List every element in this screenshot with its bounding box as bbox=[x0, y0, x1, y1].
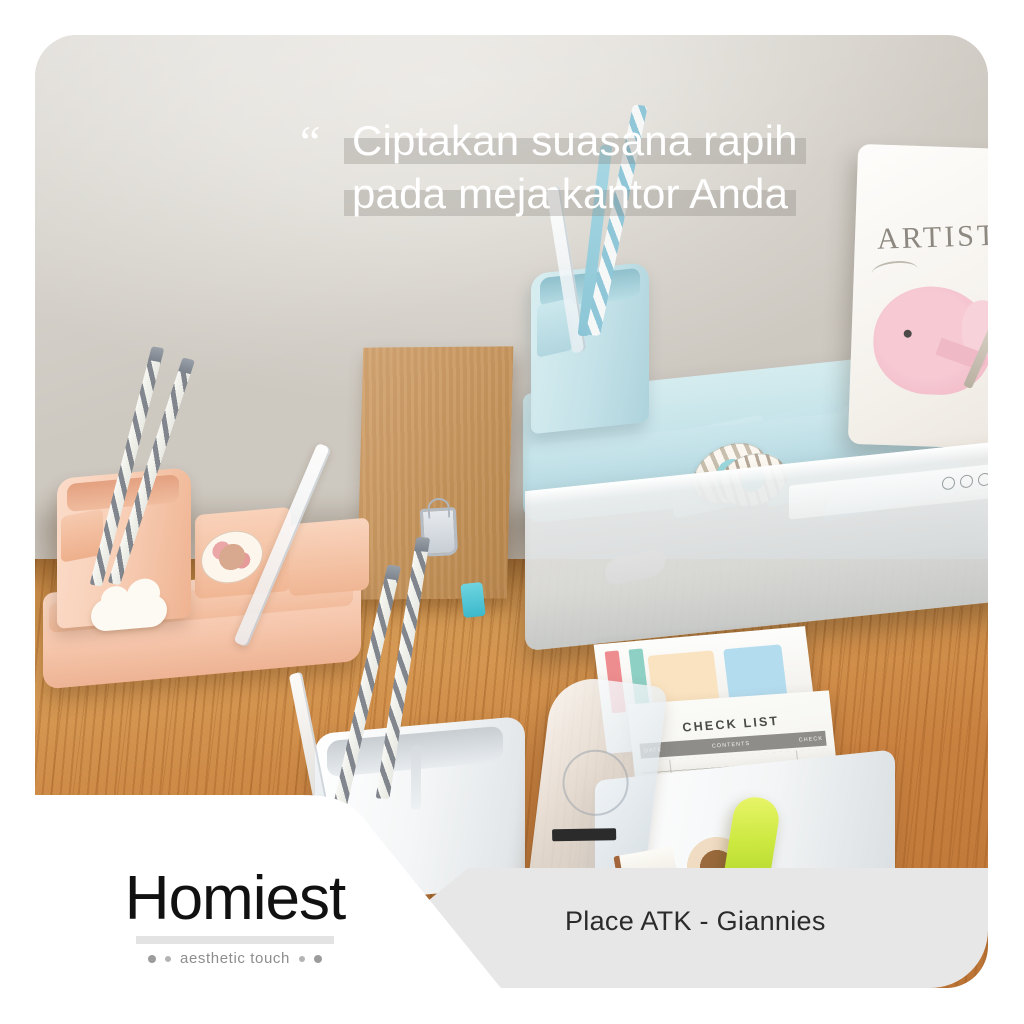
checklist-col-contents: CONTENTS bbox=[666, 737, 796, 752]
pencil-tip bbox=[414, 537, 430, 552]
product-card: ARTIST bbox=[0, 0, 1024, 1024]
headline-block: “ Ciptakan suasana rapih pada meja kanto… bbox=[300, 117, 940, 222]
dot-icon bbox=[314, 955, 322, 963]
headline-row: pada meja kantor Anda bbox=[344, 170, 940, 219]
drawer-label bbox=[789, 463, 988, 519]
headline-lines: Ciptakan suasana rapih pada meja kantor … bbox=[344, 117, 940, 218]
brand-name: Homiest bbox=[75, 868, 395, 930]
quote-mark-icon: “ bbox=[300, 119, 320, 165]
dot-icon bbox=[165, 956, 171, 962]
brand-logo: Homiest aesthetic touch bbox=[75, 868, 395, 967]
checklist-col-check: CHECK bbox=[796, 735, 827, 743]
pink-compartment-right bbox=[289, 518, 369, 597]
brand-underline bbox=[136, 936, 334, 944]
dot-icon bbox=[148, 955, 156, 963]
blue-pen-cup bbox=[531, 262, 649, 434]
headline-line-2: pada meja kantor Anda bbox=[344, 170, 796, 219]
headline-row: Ciptakan suasana rapih bbox=[344, 117, 940, 166]
pink-organizer bbox=[43, 425, 383, 675]
product-label: Place ATK - Giannies bbox=[565, 906, 826, 937]
blue-tab-clip bbox=[460, 582, 485, 618]
artist-card-text: ARTIST bbox=[877, 219, 988, 257]
dot-icon bbox=[299, 956, 305, 962]
white-cup-divider bbox=[411, 745, 421, 810]
brand-tagline: aesthetic touch bbox=[180, 950, 290, 967]
brand-tagline-row: aesthetic touch bbox=[75, 950, 395, 967]
artist-card-scribble bbox=[871, 259, 919, 284]
headline-line-1: Ciptakan suasana rapih bbox=[344, 117, 806, 166]
